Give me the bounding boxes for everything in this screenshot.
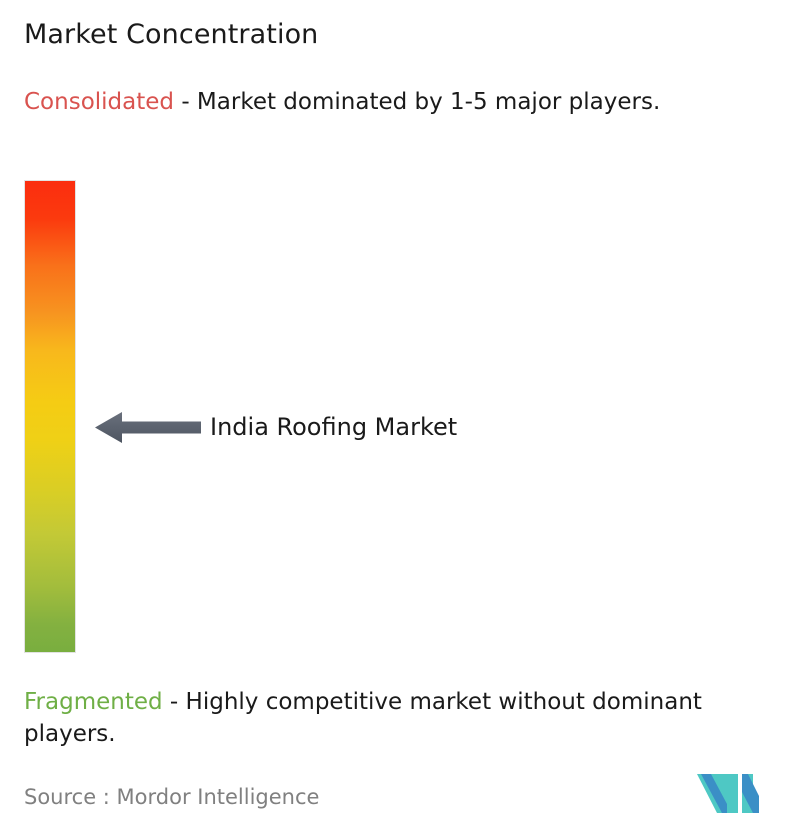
arrow-left-icon — [95, 409, 201, 446]
source-note: Source : Mordor Intelligence — [24, 783, 319, 811]
legend-term-consolidated: Consolidated — [24, 89, 174, 115]
legend-fragmented: Fragmented - Highly competitive market w… — [24, 686, 780, 750]
page-title: Market Concentration — [24, 18, 318, 52]
legend-term-fragmented: Fragmented — [24, 689, 163, 715]
concentration-gradient-bar — [25, 181, 75, 652]
marker-label-india-roofing-market: India Roofing Market — [210, 411, 457, 444]
legend-consolidated: Consolidated - Market dominated by 1-5 m… — [24, 86, 780, 118]
legend-description-consolidated: - Market dominated by 1-5 major players. — [174, 89, 660, 115]
mordor-intelligence-logo-icon — [697, 770, 759, 813]
